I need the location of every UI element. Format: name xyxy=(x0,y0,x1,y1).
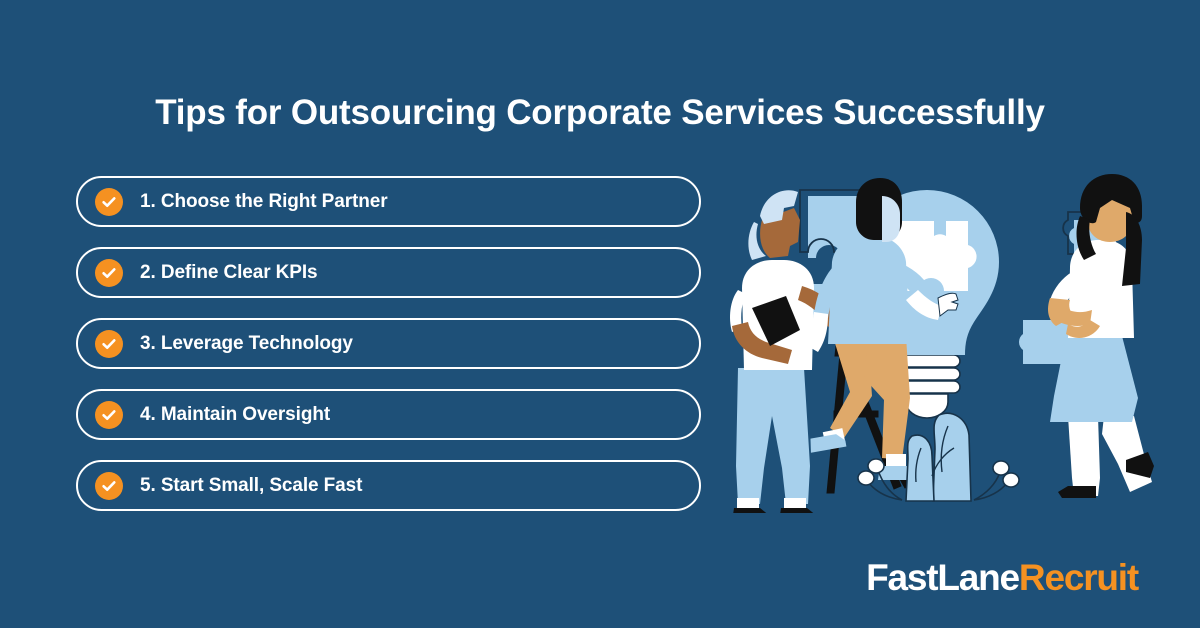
tip-card-2[interactable]: 2. Define Clear KPIs xyxy=(76,247,701,298)
fastlanerecruit-logo[interactable]: FastLaneRecruit xyxy=(866,558,1138,598)
check-circle-icon xyxy=(95,330,123,358)
banner-background: Tips for Outsourcing Corporate Services … xyxy=(0,0,1200,628)
check-circle-icon xyxy=(95,259,123,287)
tip-card-5[interactable]: 5. Start Small, Scale Fast xyxy=(76,460,701,511)
page-title: Tips for Outsourcing Corporate Services … xyxy=(0,90,1200,136)
logo-accent-text: Recruit xyxy=(1019,557,1138,598)
tips-list: 1. Choose the Right Partner 2. Define Cl… xyxy=(76,176,701,511)
tip-label: 1. Choose the Right Partner xyxy=(140,191,388,213)
teamwork-lightbulb-puzzle-illustration xyxy=(716,168,1166,513)
check-circle-icon xyxy=(95,188,123,216)
tip-label: 2. Define Clear KPIs xyxy=(140,262,318,284)
tip-card-1[interactable]: 1. Choose the Right Partner xyxy=(76,176,701,227)
tip-label: 3. Leverage Technology xyxy=(140,333,353,355)
tip-label: 5. Start Small, Scale Fast xyxy=(140,475,362,497)
tip-label: 4. Maintain Oversight xyxy=(140,404,330,426)
tip-card-3[interactable]: 3. Leverage Technology xyxy=(76,318,701,369)
logo-primary-text: FastLane xyxy=(866,557,1019,598)
check-circle-icon xyxy=(95,401,123,429)
check-circle-icon xyxy=(95,472,123,500)
tip-card-4[interactable]: 4. Maintain Oversight xyxy=(76,389,701,440)
puzzle-piece-icon xyxy=(1019,320,1069,364)
